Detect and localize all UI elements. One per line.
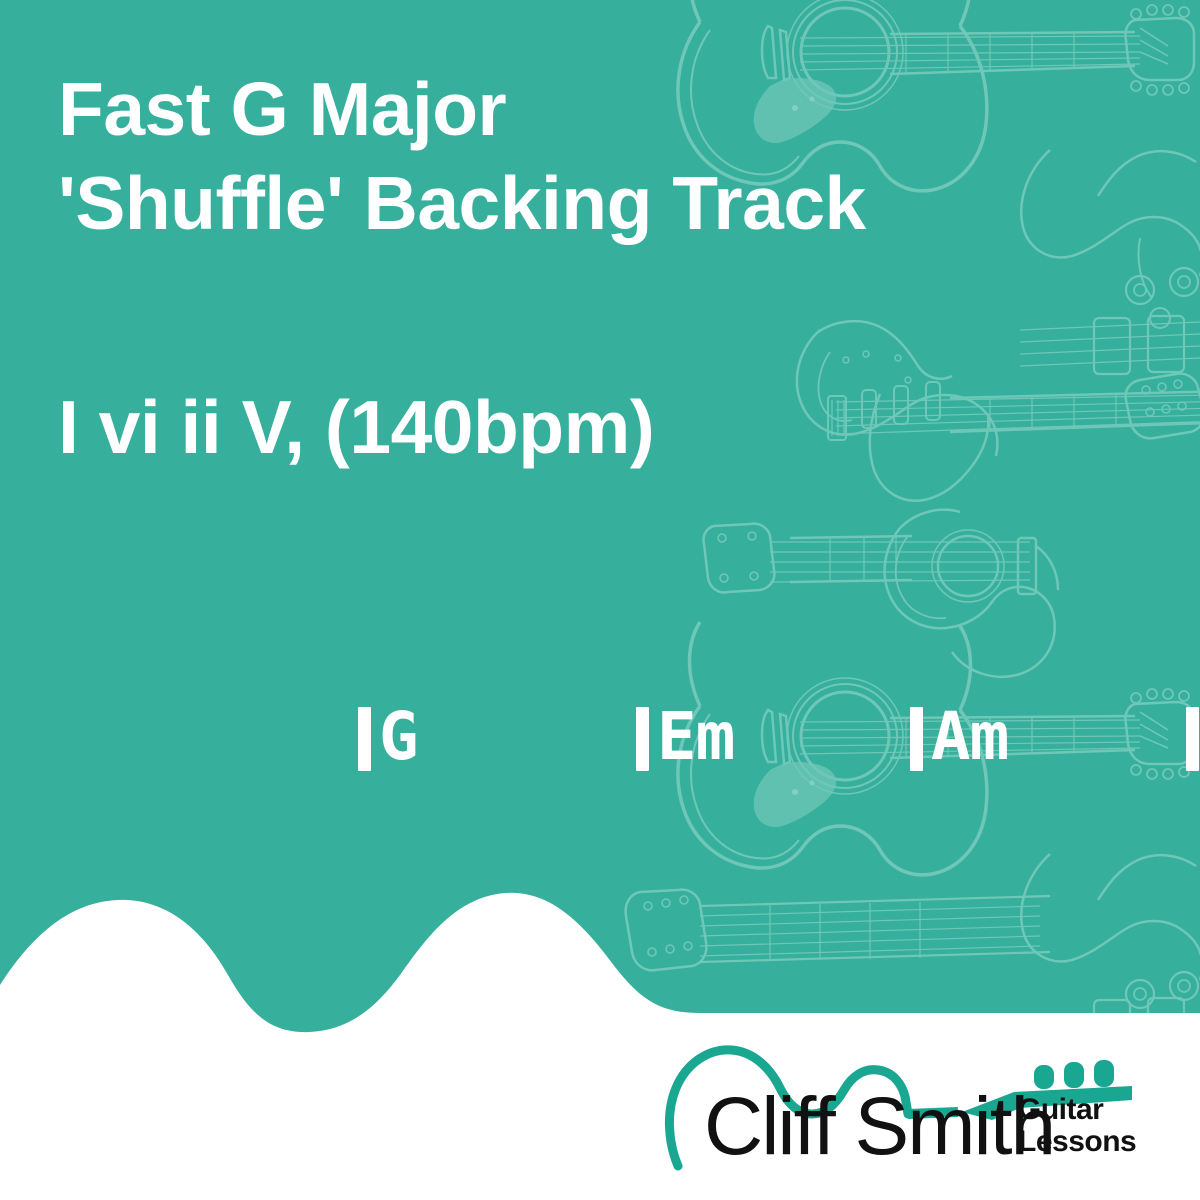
cliff-smith-guitar-lessons-logo[interactable]: Cliff Smith Guitar Lessons — [662, 1038, 1162, 1178]
poster-canvas: Fast G Major 'Shuffle' Backing Track I v… — [0, 0, 1200, 1200]
poster-title: Fast G Major 'Shuffle' Backing Track — [58, 62, 1118, 250]
logo-wordmark: Cliff Smith — [704, 1086, 1054, 1168]
poster-text-layer: Fast G Major 'Shuffle' Backing Track I v… — [0, 0, 1200, 1200]
logo-subtitle-line-1: Guitar — [1018, 1094, 1136, 1126]
logo-subtitle: Guitar Lessons — [1018, 1094, 1136, 1158]
chord-end-barline — [1144, 602, 1200, 872]
chord-chart: G Em Am D7 — [40, 602, 1170, 692]
logo-subtitle-line-2: Lessons — [1018, 1126, 1136, 1158]
title-line-2: 'Shuffle' Backing Track — [58, 156, 1118, 250]
title-line-1: Fast G Major — [58, 62, 1118, 156]
chord-progression-summary: I vi ii V, (140bpm) — [58, 380, 654, 474]
